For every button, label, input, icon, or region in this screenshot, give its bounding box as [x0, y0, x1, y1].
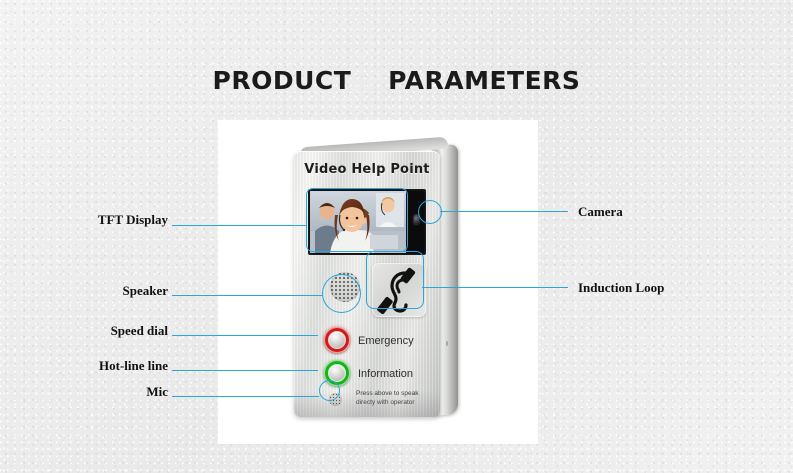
- callout-label-mic: Mic: [0, 384, 168, 400]
- callout-label-speaker: Speaker: [0, 283, 168, 299]
- microphone-instruction-text: Press above to speak directy with operat…: [356, 389, 430, 407]
- side-screw-icon: [446, 341, 448, 346]
- leader-line-mic: [172, 396, 319, 397]
- video-help-point-device: Video Help Point: [290, 141, 470, 419]
- microphone-icon: [329, 393, 342, 406]
- callout-label-camera: Camera: [578, 204, 623, 220]
- emergency-button-cap: [329, 332, 345, 348]
- emergency-button-label: Emergency: [358, 335, 414, 347]
- callout-label-tft-display: TFT Display: [0, 212, 168, 228]
- leader-line-tft-display: [172, 225, 306, 226]
- induction-loop-plate: [372, 263, 426, 317]
- information-button-label: Information: [358, 368, 413, 380]
- screen-bezel: [308, 189, 426, 255]
- device-front-panel: Video Help Point: [294, 151, 440, 417]
- leader-line-camera: [440, 211, 568, 212]
- hearing-loop-ear-icon: [375, 266, 423, 314]
- callout-label-speed-dial: Speed dial: [0, 323, 168, 339]
- callout-label-hot-line: Hot-line line: [0, 358, 168, 374]
- speaker-icon: [330, 272, 360, 302]
- leader-line-speed-dial: [172, 335, 318, 336]
- emergency-button[interactable]: [324, 327, 350, 353]
- leader-line-induction-loop: [422, 287, 568, 288]
- callout-label-induction-loop: Induction Loop: [578, 280, 664, 296]
- device-brand-label: Video Help Point: [294, 162, 440, 177]
- page-title: PRODUCT PARAMETERS: [0, 66, 793, 95]
- camera-icon: [414, 215, 419, 224]
- leader-line-hot-line: [172, 370, 318, 371]
- tft-display-screen: [310, 191, 406, 253]
- information-button[interactable]: [324, 360, 350, 386]
- leader-line-speaker: [172, 295, 322, 296]
- information-button-cap: [329, 365, 345, 381]
